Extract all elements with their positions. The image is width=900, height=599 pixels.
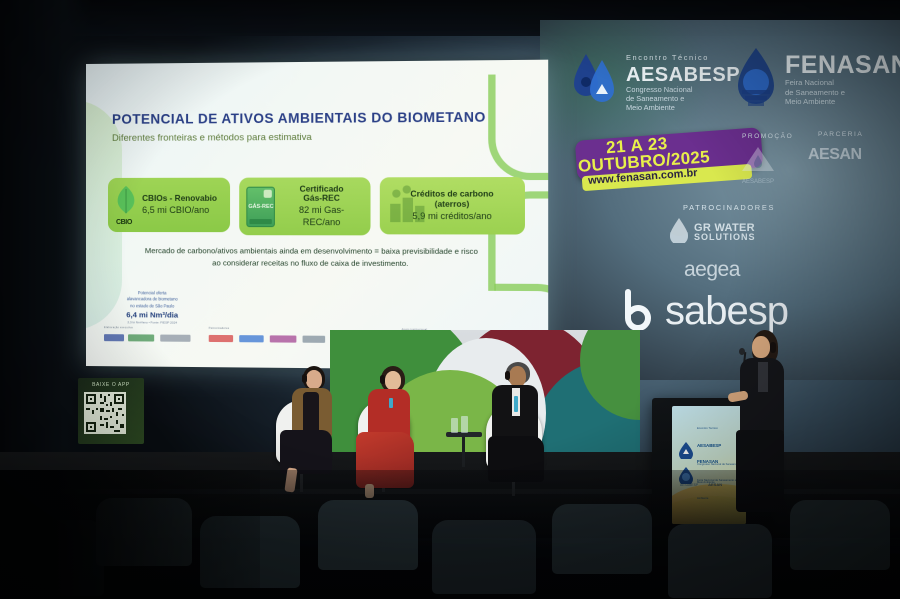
logo-strip-caption-2: Patrocinadores — [209, 327, 230, 330]
side-table-leg — [462, 437, 465, 467]
aesabesp-sub-1: Congresso Nacional — [626, 85, 693, 94]
logo-strip-caption-1: Elaboração executiva — [104, 326, 133, 329]
fenasan-drop-icon — [736, 46, 780, 113]
card-cbios-value: 6,5 mi CBIO/ano — [142, 204, 223, 216]
slide-note: Mercado de carbono/ativos ambientais ain… — [142, 245, 481, 270]
aesabesp-lockup: Encontro Técnico AESABESP Congresso Naci… — [572, 48, 740, 113]
card-gas-rec-heading-2: Gás-REC — [280, 194, 363, 204]
podium-logo-1-kicker: Encontro Técnico — [697, 427, 718, 430]
slide-stat-block: Potencial oferta alavancadora de biometa… — [104, 290, 201, 325]
card-creditos-carbono: Créditos de carbono (aterros) 5,9 mi cré… — [380, 177, 525, 235]
leaf-icon: CBIO — [115, 185, 137, 225]
strip-logo-7 — [303, 336, 326, 343]
check-badge-icon — [264, 189, 272, 197]
microphone-icon — [739, 348, 745, 355]
strip-logo-5 — [239, 335, 263, 342]
card-gas-rec: GÁS-REC Certificado Gás-REC 82 mi Gas-RE… — [240, 177, 371, 235]
audience-seat-6 — [668, 524, 772, 598]
slide-note-line-1: Mercado de carbono/ativos ambientais ain… — [145, 246, 400, 256]
strip-logo-4 — [209, 335, 233, 342]
sponsor-sabesp: sabesp — [620, 288, 788, 335]
audience-seat-7 — [790, 500, 890, 570]
cbio-mark-label: CBIO — [116, 219, 132, 226]
promocao-label: PROMOÇÃO — [742, 133, 793, 140]
fenasan-sub-1: Feira Nacional — [785, 78, 834, 87]
fenasan-title: FENASAN — [785, 51, 900, 79]
sabesp-mark-icon — [620, 288, 656, 335]
panelist-3-headset-icon — [505, 371, 510, 380]
sponsor-aegea: aegea — [684, 258, 740, 282]
panelist-3-head — [509, 366, 526, 387]
audience-seat-4 — [432, 520, 536, 594]
card-gas-rec-heading-1: Certificado — [280, 184, 363, 194]
audience-seat-3 — [318, 500, 418, 570]
panelist-2-head — [385, 371, 401, 390]
audience-seat-5 — [552, 504, 652, 574]
gas-rec-mark-label: GÁS-REC — [248, 203, 273, 209]
stat-value: 6,4 mi Nm³/dia — [104, 310, 201, 320]
speaker-inner-top — [758, 362, 768, 392]
panelist-2-badge-lanyard — [389, 398, 393, 408]
parceria-logo: AESAN — [808, 146, 862, 164]
panelist-1-headset-icon — [302, 374, 307, 383]
parceria-label: PARCERIA — [818, 131, 863, 138]
fenasan-sub-3: Meio Ambiente — [785, 97, 835, 106]
slide-title: POTENCIAL DE ATIVOS AMBIENTAIS DO BIOMET… — [112, 109, 486, 126]
slide-subtitle: Diferentes fronteiras e métodos para est… — [112, 131, 312, 143]
conference-photo: Encontro Técnico AESABESP Congresso Naci… — [0, 0, 900, 599]
panelist-1-top — [303, 392, 319, 434]
panelist-3-badge-lanyard — [514, 396, 518, 412]
panelist-1-head — [306, 370, 322, 389]
audience-shadow-left — [0, 470, 260, 599]
projection-screen: POTENCIAL DE ATIVOS AMBIENTAIS DO BIOMET… — [86, 60, 548, 371]
promocao-logo: AESABESP — [738, 145, 778, 185]
podium-logo-2-title: FENASAN — [697, 459, 718, 464]
aesabesp-sub-3: Meio Ambiente — [626, 103, 675, 112]
panelist-2-headset-icon — [380, 375, 385, 384]
speaker-headset-icon — [770, 342, 776, 353]
patrocinadores-label: PATROCINADORES — [683, 203, 775, 212]
strip-logo-2 — [128, 334, 154, 341]
sponsor-gr-line-2: SOLUTIONS — [694, 233, 756, 242]
card-gas-rec-value: 82 mi Gas-REC/ano — [280, 204, 363, 229]
factory-icon — [386, 185, 430, 226]
strip-logo-3 — [160, 335, 190, 342]
gr-droplet-icon — [668, 217, 690, 248]
card-cbios-heading: CBIOs - Renovabio — [142, 194, 223, 204]
promocao-logo-text: AESABESP — [738, 179, 778, 185]
fenasan-sub-2: de Saneamento e — [785, 88, 845, 97]
speaker-head — [752, 336, 770, 358]
strip-logo-1 — [104, 334, 124, 341]
aesabesp-kicker: Encontro Técnico — [626, 53, 709, 62]
water-glass-2 — [461, 416, 468, 433]
sabesp-wordmark: sabesp — [665, 289, 788, 334]
certificate-icon: GÁS-REC — [247, 186, 276, 226]
card-cbios: CBIO CBIOs - Renovabio 6,5 mi CBIO/ano — [108, 178, 230, 232]
aesabesp-sub-2: de Saneamento e — [626, 94, 684, 103]
qr-code-icon — [84, 392, 126, 434]
strip-logo-6 — [270, 335, 297, 342]
slide-card-row: CBIO CBIOs - Renovabio 6,5 mi CBIO/ano G… — [108, 177, 525, 236]
fenasan-lockup: FENASAN Feira Nacional de Saneamento e M… — [736, 46, 900, 113]
stat-source: 2,3 bi Nm³/ano • Fonte: FIESP 2024 — [104, 320, 201, 325]
water-drop-icon — [572, 50, 620, 111]
slide-decor-1 — [488, 74, 548, 180]
certificate-footer-bar — [250, 219, 272, 224]
podium-logo-1-title: AESABESP — [697, 443, 721, 448]
sponsor-gr-water-solutions: GR WATER SOLUTIONS — [668, 218, 788, 246]
water-glass-1 — [451, 418, 458, 433]
app-promo-label: BAIXE O APP — [80, 382, 142, 388]
stat-line-3: no estado de São Paulo — [104, 303, 201, 310]
aesabesp-title: AESABESP — [626, 64, 740, 86]
